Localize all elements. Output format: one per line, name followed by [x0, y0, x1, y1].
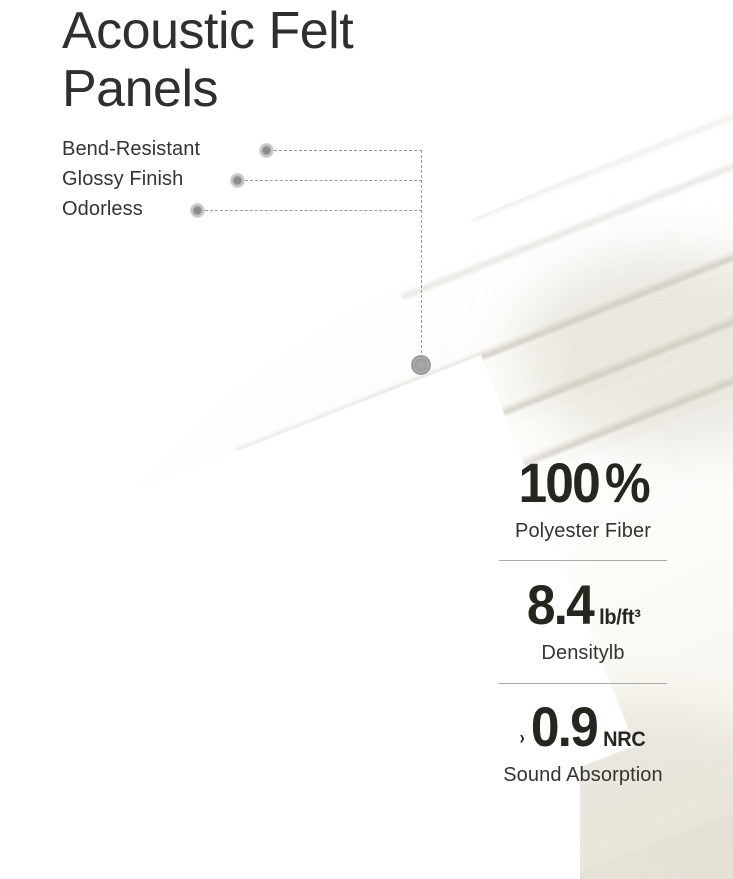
product-marketing-image: Acoustic Felt Panels Bend-Resistant Glos… [0, 0, 733, 879]
page-title: Acoustic Felt Panels [62, 2, 482, 118]
spec-value-row: 100% [460, 455, 706, 511]
leader-dot-icon-odorless [190, 203, 205, 218]
leader-line-horizontal-2 [245, 180, 422, 181]
feature-label-glossy-finish: Glossy Finish [62, 168, 183, 191]
page-title-line-2: Panels [62, 60, 482, 118]
leader-line-horizontal-3 [205, 210, 422, 211]
text-overlay: Acoustic Felt Panels Bend-Resistant Glos… [0, 0, 733, 879]
feature-label-bend-resistant: Bend-Resistant [62, 138, 200, 161]
spec-number: 8.4 [527, 577, 593, 633]
leader-line-vertical [421, 150, 422, 358]
spec-divider-2 [499, 683, 667, 684]
spec-unit: % [605, 455, 649, 511]
spec-label: Polyester Fiber [460, 520, 706, 543]
spec-label: Densitylb [460, 642, 706, 665]
leader-dot-icon-terminal [411, 355, 431, 375]
spec-list: 100% Polyester Fiber 8.4lb/ft³ Densitylb… [460, 455, 706, 787]
page-title-line-1: Acoustic Felt [62, 2, 482, 60]
feature-label-odorless: Odorless [62, 198, 143, 221]
leader-line-horizontal-1 [274, 150, 422, 151]
spec-value-row: ›0.9NRC [460, 699, 706, 755]
spec-item-polyester-fiber: 100% Polyester Fiber [460, 455, 706, 543]
spec-item-sound-absorption: ›0.9NRC Sound Absorption [460, 699, 706, 787]
leader-dot-icon-glossy-finish [230, 173, 245, 188]
spec-label: Sound Absorption [460, 764, 706, 787]
spec-number: 0.9 [531, 699, 597, 755]
spec-divider-1 [499, 560, 667, 561]
spec-number: 100 [519, 455, 599, 511]
spec-unit: lb/ft³ [599, 607, 641, 628]
spec-item-density: 8.4lb/ft³ Densitylb [460, 577, 706, 665]
spec-unit: NRC [603, 729, 645, 750]
leader-dot-icon-bend-resistant [259, 143, 274, 158]
greater-than-icon: › [520, 729, 525, 748]
spec-value-row: 8.4lb/ft³ [460, 577, 706, 633]
